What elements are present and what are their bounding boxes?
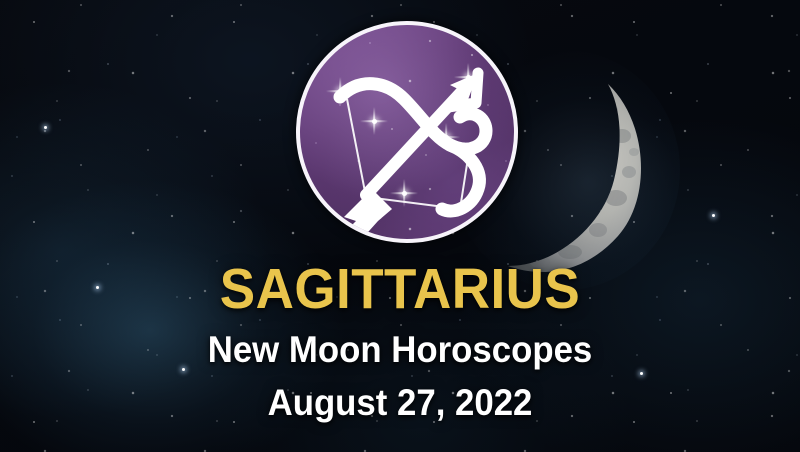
bright-star-icon: [44, 126, 47, 129]
moon-terminator-shadow: [508, 84, 641, 272]
banner-date: August 27, 2022: [24, 380, 776, 425]
arrow-fletching: [344, 189, 392, 241]
zodiac-sign-title: SAGITTARIUS: [28, 258, 772, 320]
sagittarius-glyph-icon: [300, 25, 518, 243]
zodiac-medallion: [296, 21, 518, 243]
bright-star-icon: [712, 214, 715, 217]
horoscope-banner: SAGITTARIUS New Moon Horoscopes August 2…: [0, 0, 800, 452]
banner-headline: New Moon Horoscopes: [24, 327, 776, 372]
banner-text-block: SAGITTARIUS New Moon Horoscopes August 2…: [0, 258, 800, 425]
